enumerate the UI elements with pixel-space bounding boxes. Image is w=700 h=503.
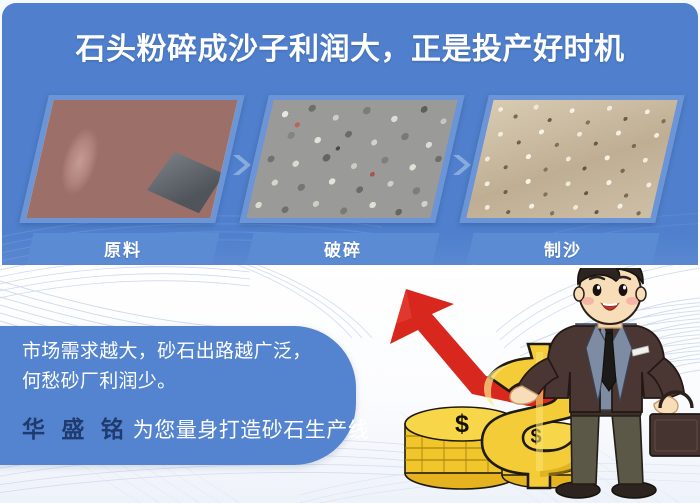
crushed-gravel-photo xyxy=(246,100,457,218)
promotional-banner: 石头粉碎成沙子利润大，正是投产好时机 原料 破碎 xyxy=(0,0,700,503)
slogan-text: 为您量身打造砂石生产线 xyxy=(133,414,370,444)
message-line-2: 何愁砂厂利润少。 xyxy=(22,366,176,393)
brand-slogan-line: 华 盛 铭 为您量身打造砂石生产线 xyxy=(22,410,369,444)
step-card-sand-making[interactable] xyxy=(474,95,670,223)
step-card-plate xyxy=(239,95,465,223)
message-line-1: 市场需求越大，砂石出路越广泛， xyxy=(22,336,312,363)
step-label-crushing: 破碎 xyxy=(250,233,436,264)
step-label-text: 制沙 xyxy=(470,233,656,264)
page-title: 石头粉碎成沙子利润大，正是投产好时机 xyxy=(0,24,700,68)
illustration-group: $ $ xyxy=(360,268,700,503)
step-card-plate xyxy=(459,95,685,223)
step-card-plate xyxy=(19,95,245,223)
coin-dollar-glyph: $ xyxy=(455,410,469,438)
step-label-raw-material: 原料 xyxy=(30,233,216,264)
manufactured-sand-photo xyxy=(466,100,677,218)
step-label-text: 破碎 xyxy=(250,233,436,264)
message-callout-box: 市场需求越大，砂石出路越广泛， 何愁砂厂利润少。 华 盛 铭 为您量身打造砂石生… xyxy=(0,326,356,465)
step-card-crushing[interactable] xyxy=(254,95,450,223)
step-card-raw-material[interactable] xyxy=(34,95,230,223)
step-label-sand-making: 制沙 xyxy=(470,233,656,264)
step-label-text: 原料 xyxy=(30,233,216,264)
raw-stone-photo xyxy=(26,100,237,218)
brand-name: 华 盛 铭 xyxy=(22,410,129,444)
